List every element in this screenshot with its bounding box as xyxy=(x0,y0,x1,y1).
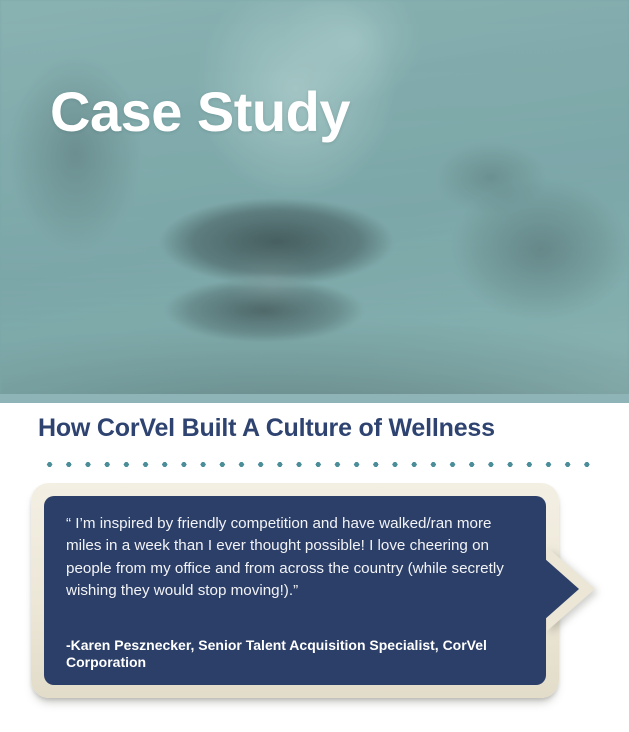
dotted-divider xyxy=(40,462,596,467)
quote-attribution: -Karen Pesznecker, Senior Talent Acquisi… xyxy=(66,637,524,671)
quote-text: “ I’m inspired by friendly competition a… xyxy=(66,513,524,602)
page-title: Case Study xyxy=(50,83,350,142)
speech-bubble-tail-icon xyxy=(544,558,579,620)
hero-banner: Case Study xyxy=(0,0,629,403)
quote-callout: “ I’m inspired by friendly competition a… xyxy=(31,483,559,705)
quote-body: “ I’m inspired by friendly competition a… xyxy=(44,496,546,685)
hero-bottom-band xyxy=(0,394,629,403)
teal-overlay-secondary xyxy=(0,0,629,403)
headline: How CorVel Built A Culture of Wellness xyxy=(38,414,495,443)
